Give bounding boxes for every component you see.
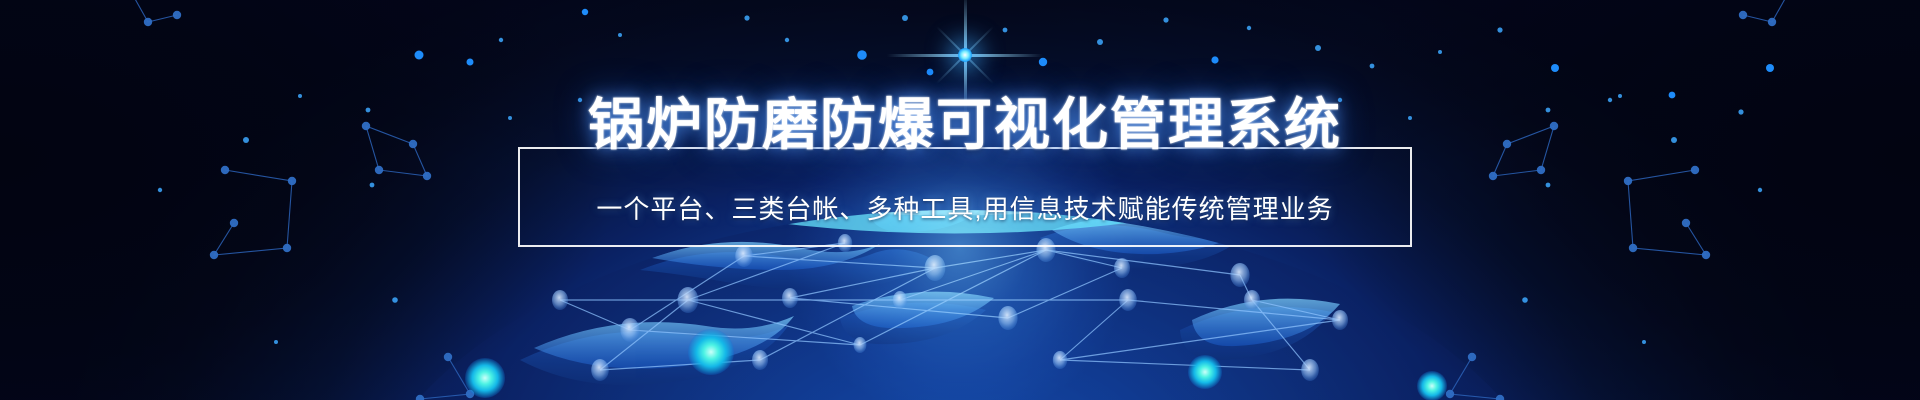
cyan-flare bbox=[688, 329, 734, 375]
cyan-flare bbox=[465, 358, 505, 398]
page-title: 锅炉防磨防爆可视化管理系统 bbox=[520, 94, 1410, 156]
globe-network-edges bbox=[560, 243, 1340, 370]
globe-network-nodes bbox=[552, 234, 1348, 381]
cyan-flare bbox=[1188, 355, 1222, 389]
sparkle-core bbox=[958, 48, 972, 62]
hero-banner: 锅炉防磨防爆可视化管理系统 一个平台、三类台帐、多种工具,用信息技术赋能传统管理… bbox=[0, 0, 1920, 400]
page-subtitle: 一个平台、三类台帐、多种工具,用信息技术赋能传统管理业务 bbox=[520, 193, 1410, 225]
cyan-flare bbox=[1417, 371, 1447, 400]
headline-frame: 锅炉防磨防爆可视化管理系统 一个平台、三类台帐、多种工具,用信息技术赋能传统管理… bbox=[518, 147, 1412, 247]
